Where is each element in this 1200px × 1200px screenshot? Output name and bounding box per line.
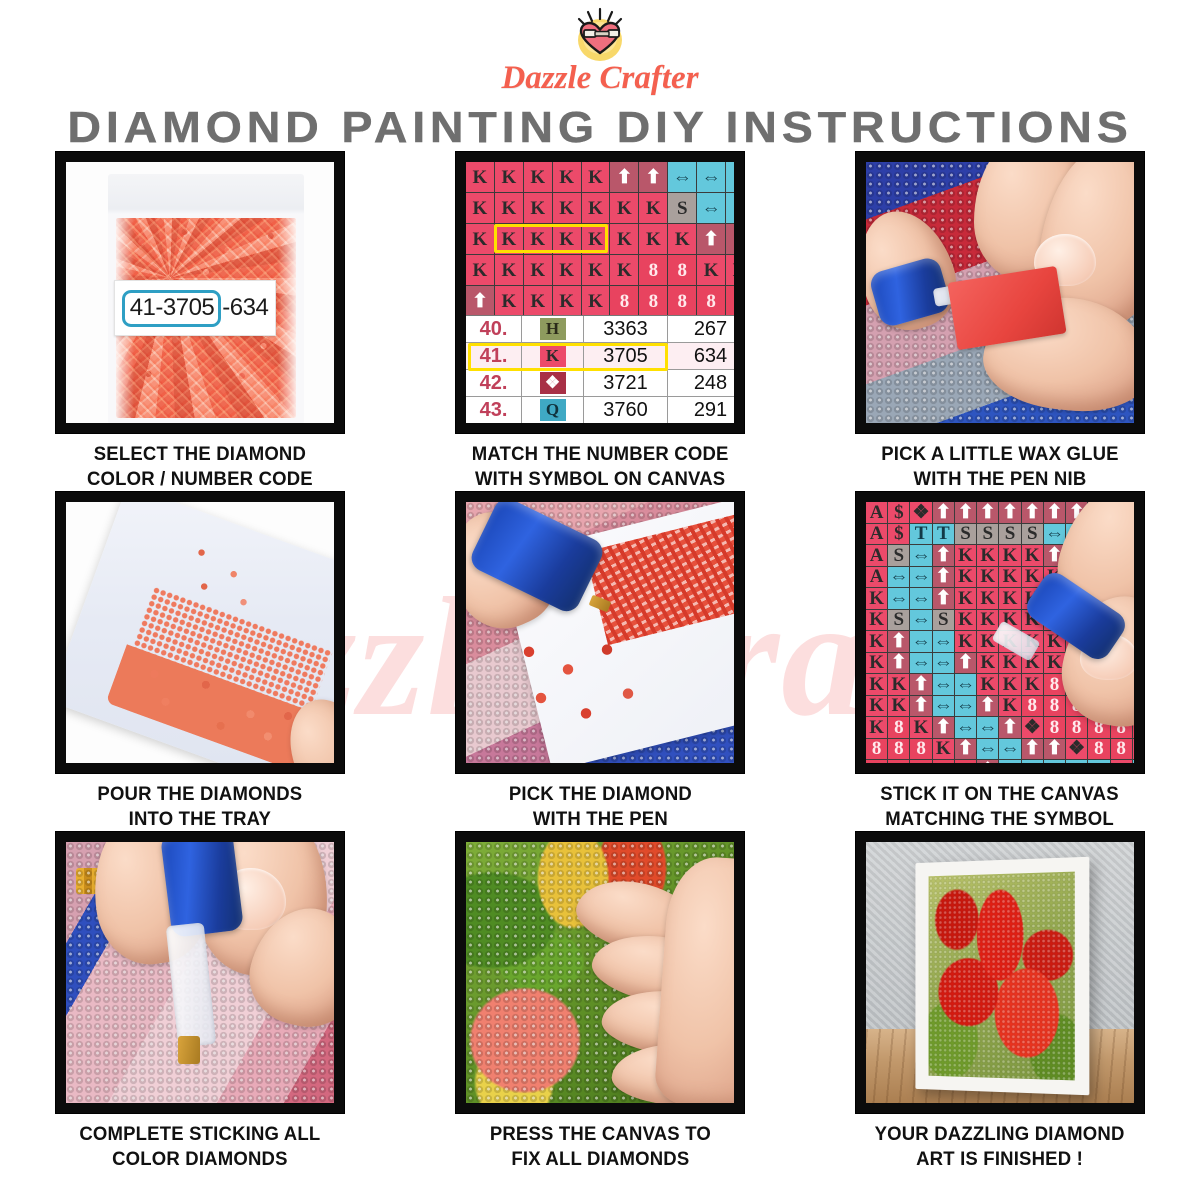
legend-symbol: Q — [522, 397, 584, 423]
grid-cell: ⇔ — [910, 610, 931, 631]
code-suffix: -634 — [222, 294, 268, 322]
legend-symbol: ❖ — [522, 370, 584, 396]
grid-cell: ⬆ — [955, 653, 976, 674]
grid-cell: ⇔ — [726, 162, 734, 192]
grid-cell: ⬆ — [1022, 739, 1043, 760]
legend-row: 40.H3363267 — [466, 316, 734, 343]
grid-cell: ⇔ — [933, 674, 954, 695]
grid-cell: 8 — [888, 760, 909, 763]
grid-cell: ❖ — [910, 502, 931, 523]
grid-cell: K — [495, 255, 523, 285]
caption-line-2: COLOR / NUMBER CODE — [87, 467, 313, 492]
grid-cell: ⇔ — [977, 717, 998, 738]
grid-cell: $ — [888, 502, 909, 523]
grid-cell: 8 — [1088, 739, 1109, 760]
grid-cell: ⇔ — [933, 696, 954, 717]
grid-cell: K — [1022, 674, 1043, 695]
grid-cell: S — [933, 610, 954, 631]
grid-cell: ⬆ — [977, 760, 998, 763]
grid-cell: 8 — [1066, 717, 1087, 738]
caption-line-1: MATCH THE NUMBER CODE — [472, 442, 729, 467]
caption-line-1: PICK THE DIAMOND — [508, 782, 691, 807]
grid-cell: K — [466, 162, 494, 192]
grid-cell: K — [977, 588, 998, 609]
grid-cell: K — [866, 610, 887, 631]
grid-cell: K — [466, 193, 494, 223]
grid-cell: ⇔ — [910, 567, 931, 588]
grid-cell: ⇔ — [977, 739, 998, 760]
caption-line-2: WITH SYMBOL ON CANVAS — [472, 467, 729, 492]
diamond-tray-photo — [56, 492, 344, 773]
grid-cell: K — [955, 610, 976, 631]
grid-cell: K — [582, 224, 610, 254]
grid-cell: K — [726, 255, 734, 285]
grid-cell: K — [999, 653, 1020, 674]
caption-line-2: ART IS FINISHED ! — [875, 1147, 1125, 1172]
grid-cell: K — [955, 631, 976, 652]
grid-cell: T — [910, 524, 931, 545]
step-1-select-diamond: 41-3705-634 SELECT THE DIAMOND COLOR / N… — [0, 152, 400, 492]
grid-cell: A — [866, 567, 887, 588]
grid-cell: K — [524, 255, 552, 285]
step-6-stick-on-canvas: A$❖⬆⬆⬆⬆⬆⬆⬆⬆KKA$TTSSSS⇔⇔S⬆KAS⇔⬆KKKK⬆⇔⇔⇔KA… — [800, 492, 1200, 832]
caption-line-1: COMPLETE STICKING ALL — [79, 1122, 320, 1147]
grid-cell: ⬆ — [955, 739, 976, 760]
symbol-chart-photo: KKKKK⬆⬆⇔⇔⇔KKKKKKKS⇔⇔KKKKKKKK⬆⬆KKKKKK88KK… — [456, 152, 744, 433]
grid-cell: ⬆ — [999, 502, 1020, 523]
grid-cell: ⇔ — [888, 588, 909, 609]
grid-cell: ⇔ — [726, 193, 734, 223]
grid-cell: З — [1066, 760, 1087, 763]
legend-symbol: H — [522, 316, 584, 342]
grid-cell: ⇔ — [697, 193, 725, 223]
grid-cell: ⇔ — [888, 567, 909, 588]
grid-cell: ⬆ — [933, 502, 954, 523]
legend-number: 42. — [466, 370, 522, 396]
grid-cell: K — [524, 162, 552, 192]
grid-cell: K — [955, 545, 976, 566]
grid-cell: K — [668, 224, 696, 254]
grid-cell: ⬆ — [933, 545, 954, 566]
legend-count: 634 — [668, 343, 734, 369]
grid-cell: K — [466, 224, 494, 254]
grid-cell: K — [466, 255, 494, 285]
grid-cell: ⬆ — [888, 653, 909, 674]
grid-cell: K — [866, 696, 887, 717]
grid-cell: K — [888, 674, 909, 695]
grid-cell: A — [866, 545, 887, 566]
grid-cell: ⇔ — [933, 631, 954, 652]
legend-row: 41.K3705634 — [466, 343, 734, 370]
grid-cell: T — [933, 524, 954, 545]
grid-cell: ⇔ — [955, 717, 976, 738]
brand-logo — [552, 6, 648, 62]
legend-dmc-code: 3363 — [584, 316, 668, 342]
grid-cell: ⇔ — [910, 588, 931, 609]
grid-cell: K — [866, 717, 887, 738]
grid-cell: 8 — [668, 255, 696, 285]
grid-cell: A — [866, 502, 887, 523]
grid-cell: K — [1022, 545, 1043, 566]
grid-cell: ⬆ — [697, 224, 725, 254]
grid-cell: ⬆ — [910, 674, 931, 695]
caption-line-2: WITH THE PEN — [508, 807, 691, 832]
grid-cell: K — [697, 255, 725, 285]
step-5-caption: PICK THE DIAMOND WITH THE PEN — [508, 782, 691, 832]
grid-cell: 8 — [888, 739, 909, 760]
grid-cell: ⬆ — [726, 224, 734, 254]
grid-cell: K — [610, 193, 638, 223]
grid-cell: 8 — [955, 760, 976, 763]
grid-cell: K — [977, 653, 998, 674]
caption-line-2: FIX ALL DIAMONDS — [489, 1147, 710, 1172]
step-8-press-canvas: PRESS THE CANVAS TO FIX ALL DIAMONDS — [400, 832, 800, 1172]
grid-cell: K — [582, 162, 610, 192]
legend-number: 41. — [466, 343, 522, 369]
step-9-finished-art: YOUR DAZZLING DIAMOND ART IS FINISHED ! — [800, 832, 1200, 1172]
grid-cell: З — [1133, 760, 1134, 763]
grid-cell: З — [1088, 760, 1109, 763]
grid-cell: ⬆ — [910, 696, 931, 717]
grid-cell: 8 — [639, 255, 667, 285]
grid-cell: ❖ — [1022, 717, 1043, 738]
legend-dmc-code: 3705 — [584, 343, 668, 369]
grid-cell: ⬆ — [1044, 739, 1065, 760]
step-1-caption: SELECT THE DIAMOND COLOR / NUMBER CODE — [87, 442, 313, 492]
caption-line-2: MATCHING THE SYMBOL — [881, 807, 1119, 832]
step-6-caption: STICK IT ON THE CANVAS MATCHING THE SYMB… — [881, 782, 1119, 832]
grid-cell: 8 — [610, 286, 638, 316]
step-2-caption: MATCH THE NUMBER CODE WITH SYMBOL ON CAN… — [472, 442, 729, 492]
step-2-match-number-code: KKKKK⬆⬆⇔⇔⇔KKKKKKKS⇔⇔KKKKKKKK⬆⬆KKKKKK88KK… — [400, 152, 800, 492]
grid-cell: ⇔ — [999, 760, 1020, 763]
grid-cell: K — [524, 224, 552, 254]
grid-cell: ⬆ — [977, 502, 998, 523]
grid-cell: K — [977, 545, 998, 566]
grid-cell: K — [582, 286, 610, 316]
framed-artwork — [915, 857, 1089, 1096]
grid-cell: ⬆ — [1044, 502, 1065, 523]
legend-row: 42.❖3721248 — [466, 370, 734, 397]
grid-cell: K — [866, 631, 887, 652]
grid-cell: K — [999, 567, 1020, 588]
grid-cell: K — [553, 162, 581, 192]
grid-cell: K — [999, 674, 1020, 695]
grid-cell: ⇔ — [955, 674, 976, 695]
grid-cell: ⬆ — [466, 286, 494, 316]
press-canvas-photo — [456, 832, 744, 1113]
step-8-caption: PRESS THE CANVAS TO FIX ALL DIAMONDS — [489, 1122, 710, 1172]
grid-cell: S — [1022, 524, 1043, 545]
grid-cell: ⇔ — [910, 545, 931, 566]
grid-cell: ⬆ — [977, 696, 998, 717]
step-9-caption: YOUR DAZZLING DIAMOND ART IS FINISHED ! — [875, 1122, 1125, 1172]
caption-line-2: INTO THE TRAY — [98, 807, 303, 832]
instructions-page: Dazzle Crafter DIAMOND PAINTING DIY INST… — [0, 0, 1200, 1200]
grid-cell: K — [524, 193, 552, 223]
grid-cell: ⬆ — [610, 162, 638, 192]
step-4-caption: POUR THE DIAMONDS INTO THE TRAY — [98, 782, 303, 832]
caption-line-1: PRESS THE CANVAS TO — [489, 1122, 710, 1147]
grid-cell: ⇔ — [668, 162, 696, 192]
grid-cell: ⬆ — [888, 631, 909, 652]
grid-cell: K — [977, 674, 998, 695]
grid-cell: ⬆ — [933, 717, 954, 738]
legend-row: 43.Q3760291 — [466, 397, 734, 423]
grid-cell: 8 — [888, 717, 909, 738]
grid-cell: S — [999, 524, 1020, 545]
heart-with-pen-icon — [552, 6, 648, 62]
grid-cell: 8 — [866, 760, 887, 763]
brand-name: Dazzle Crafter — [0, 60, 1200, 96]
grid-cell: 8 — [866, 739, 887, 760]
grid-cell: K — [866, 674, 887, 695]
grid-cell: ¥ — [1111, 760, 1132, 763]
caption-line-1: SELECT THE DIAMOND — [87, 442, 313, 467]
grid-cell: K — [495, 224, 523, 254]
step-3-caption: PICK A LITTLE WAX GLUE WITH THE PEN NIB — [881, 442, 1118, 492]
grid-cell: K — [888, 696, 909, 717]
grid-cell: ⇔ — [999, 739, 1020, 760]
grid-cell: K — [639, 193, 667, 223]
grid-cell: K — [977, 567, 998, 588]
legend-count: 248 — [668, 370, 734, 396]
finished-art-photo — [856, 832, 1144, 1113]
grid-cell: K — [610, 224, 638, 254]
grid-cell: ⬆ — [999, 717, 1020, 738]
grid-cell: K — [955, 567, 976, 588]
legend-number: 43. — [466, 397, 522, 423]
grid-cell: K — [639, 224, 667, 254]
grid-cell: S — [888, 545, 909, 566]
grid-cell: K — [495, 162, 523, 192]
grid-cell: K — [553, 193, 581, 223]
legend-count: 291 — [668, 397, 734, 423]
bag-code-label: 41-3705-634 — [114, 280, 276, 336]
step-4-pour-diamonds: POUR THE DIAMONDS INTO THE TRAY — [0, 492, 400, 832]
page-title: DIAMOND PAINTING DIY INSTRUCTIONS — [0, 102, 1200, 154]
grid-cell: K — [553, 224, 581, 254]
code-highlight: 41-3705 — [122, 290, 222, 327]
grid-cell: K — [933, 739, 954, 760]
grid-cell: ≋ — [1044, 760, 1065, 763]
grid-cell: K — [977, 610, 998, 631]
grid-cell: K — [524, 286, 552, 316]
caption-line-1: YOUR DAZZLING DIAMOND — [875, 1122, 1125, 1147]
grid-cell: ⬆ — [639, 162, 667, 192]
complete-sticking-photo — [56, 832, 344, 1113]
grid-cell: 8 — [697, 286, 725, 316]
grid-cell: ⇔ — [697, 162, 725, 192]
grid-cell: 8 — [933, 760, 954, 763]
grid-cell: ⇔ — [1044, 524, 1065, 545]
grid-cell: ⇔ — [910, 631, 931, 652]
grid-cell: K — [866, 588, 887, 609]
legend-symbol: K — [522, 343, 584, 369]
legend-count: 267 — [668, 316, 734, 342]
grid-cell: K — [1133, 739, 1134, 760]
grid-cell: $ — [888, 524, 909, 545]
grid-cell: K — [553, 286, 581, 316]
stick-on-canvas-photo: A$❖⬆⬆⬆⬆⬆⬆⬆⬆KKA$TTSSSS⇔⇔S⬆KAS⇔⬆KKKK⬆⇔⇔⇔KA… — [856, 492, 1144, 773]
color-legend-table: 40.H336326741.K370563442.❖372124843.Q376… — [466, 315, 734, 423]
grid-cell: ⬆ — [933, 588, 954, 609]
legend-number: 40. — [466, 316, 522, 342]
step-7-caption: COMPLETE STICKING ALL COLOR DIAMONDS — [79, 1122, 320, 1172]
grid-cell: ⬆ — [955, 502, 976, 523]
grid-cell: 8 — [726, 286, 734, 316]
grid-cell: □ — [1022, 760, 1043, 763]
pick-diamond-photo — [456, 492, 744, 773]
caption-line-1: POUR THE DIAMONDS — [98, 782, 303, 807]
grid-cell: ⬆ — [933, 567, 954, 588]
grid-cell: K — [495, 193, 523, 223]
grid-cell: S — [668, 193, 696, 223]
grid-cell: S — [955, 524, 976, 545]
grid-cell: K — [495, 286, 523, 316]
grid-cell: K — [582, 255, 610, 285]
step-3-pick-wax-glue: PICK A LITTLE WAX GLUE WITH THE PEN NIB — [800, 152, 1200, 492]
grid-cell: 8 — [910, 739, 931, 760]
grid-cell: A — [866, 524, 887, 545]
grid-cell: K — [955, 588, 976, 609]
grid-cell: K — [582, 193, 610, 223]
step-7-complete-sticking: COMPLETE STICKING ALL COLOR DIAMONDS — [0, 832, 400, 1172]
grid-cell: K — [999, 696, 1020, 717]
grid-cell: K — [553, 255, 581, 285]
grid-cell: K — [910, 717, 931, 738]
grid-cell: 8 — [639, 286, 667, 316]
caption-line-1: STICK IT ON THE CANVAS — [881, 782, 1119, 807]
grid-cell: 8 — [668, 286, 696, 316]
legend-dmc-code: 3721 — [584, 370, 668, 396]
grid-cell: ❖ — [1066, 739, 1087, 760]
legend-dmc-code: 3760 — [584, 397, 668, 423]
diamond-bag-photo: 41-3705-634 — [56, 152, 344, 433]
grid-cell: 8 — [1044, 717, 1065, 738]
grid-cell: S — [977, 524, 998, 545]
caption-line-2: WITH THE PEN NIB — [881, 467, 1118, 492]
grid-cell: 8 — [1111, 739, 1132, 760]
grid-cell: 8 — [1044, 696, 1065, 717]
grid-cell: K — [999, 545, 1020, 566]
grid-cell: 8 — [1022, 696, 1043, 717]
steps-grid: 41-3705-634 SELECT THE DIAMOND COLOR / N… — [0, 152, 1200, 1172]
grid-cell: K — [999, 588, 1020, 609]
caption-line-1: PICK A LITTLE WAX GLUE — [881, 442, 1118, 467]
grid-cell: ⇔ — [955, 696, 976, 717]
grid-cell: ⇔ — [910, 653, 931, 674]
caption-line-2: COLOR DIAMONDS — [79, 1147, 320, 1172]
page-header: Dazzle Crafter DIAMOND PAINTING DIY INST… — [0, 0, 1200, 154]
grid-cell: K — [610, 255, 638, 285]
grid-cell: S — [888, 610, 909, 631]
grid-cell: 8 — [910, 760, 931, 763]
grid-cell: ⬆ — [1022, 502, 1043, 523]
grid-cell: K — [866, 653, 887, 674]
wax-glue-photo — [856, 152, 1144, 433]
step-5-pick-diamond: PICK THE DIAMOND WITH THE PEN — [400, 492, 800, 832]
grid-cell: ⇔ — [933, 653, 954, 674]
